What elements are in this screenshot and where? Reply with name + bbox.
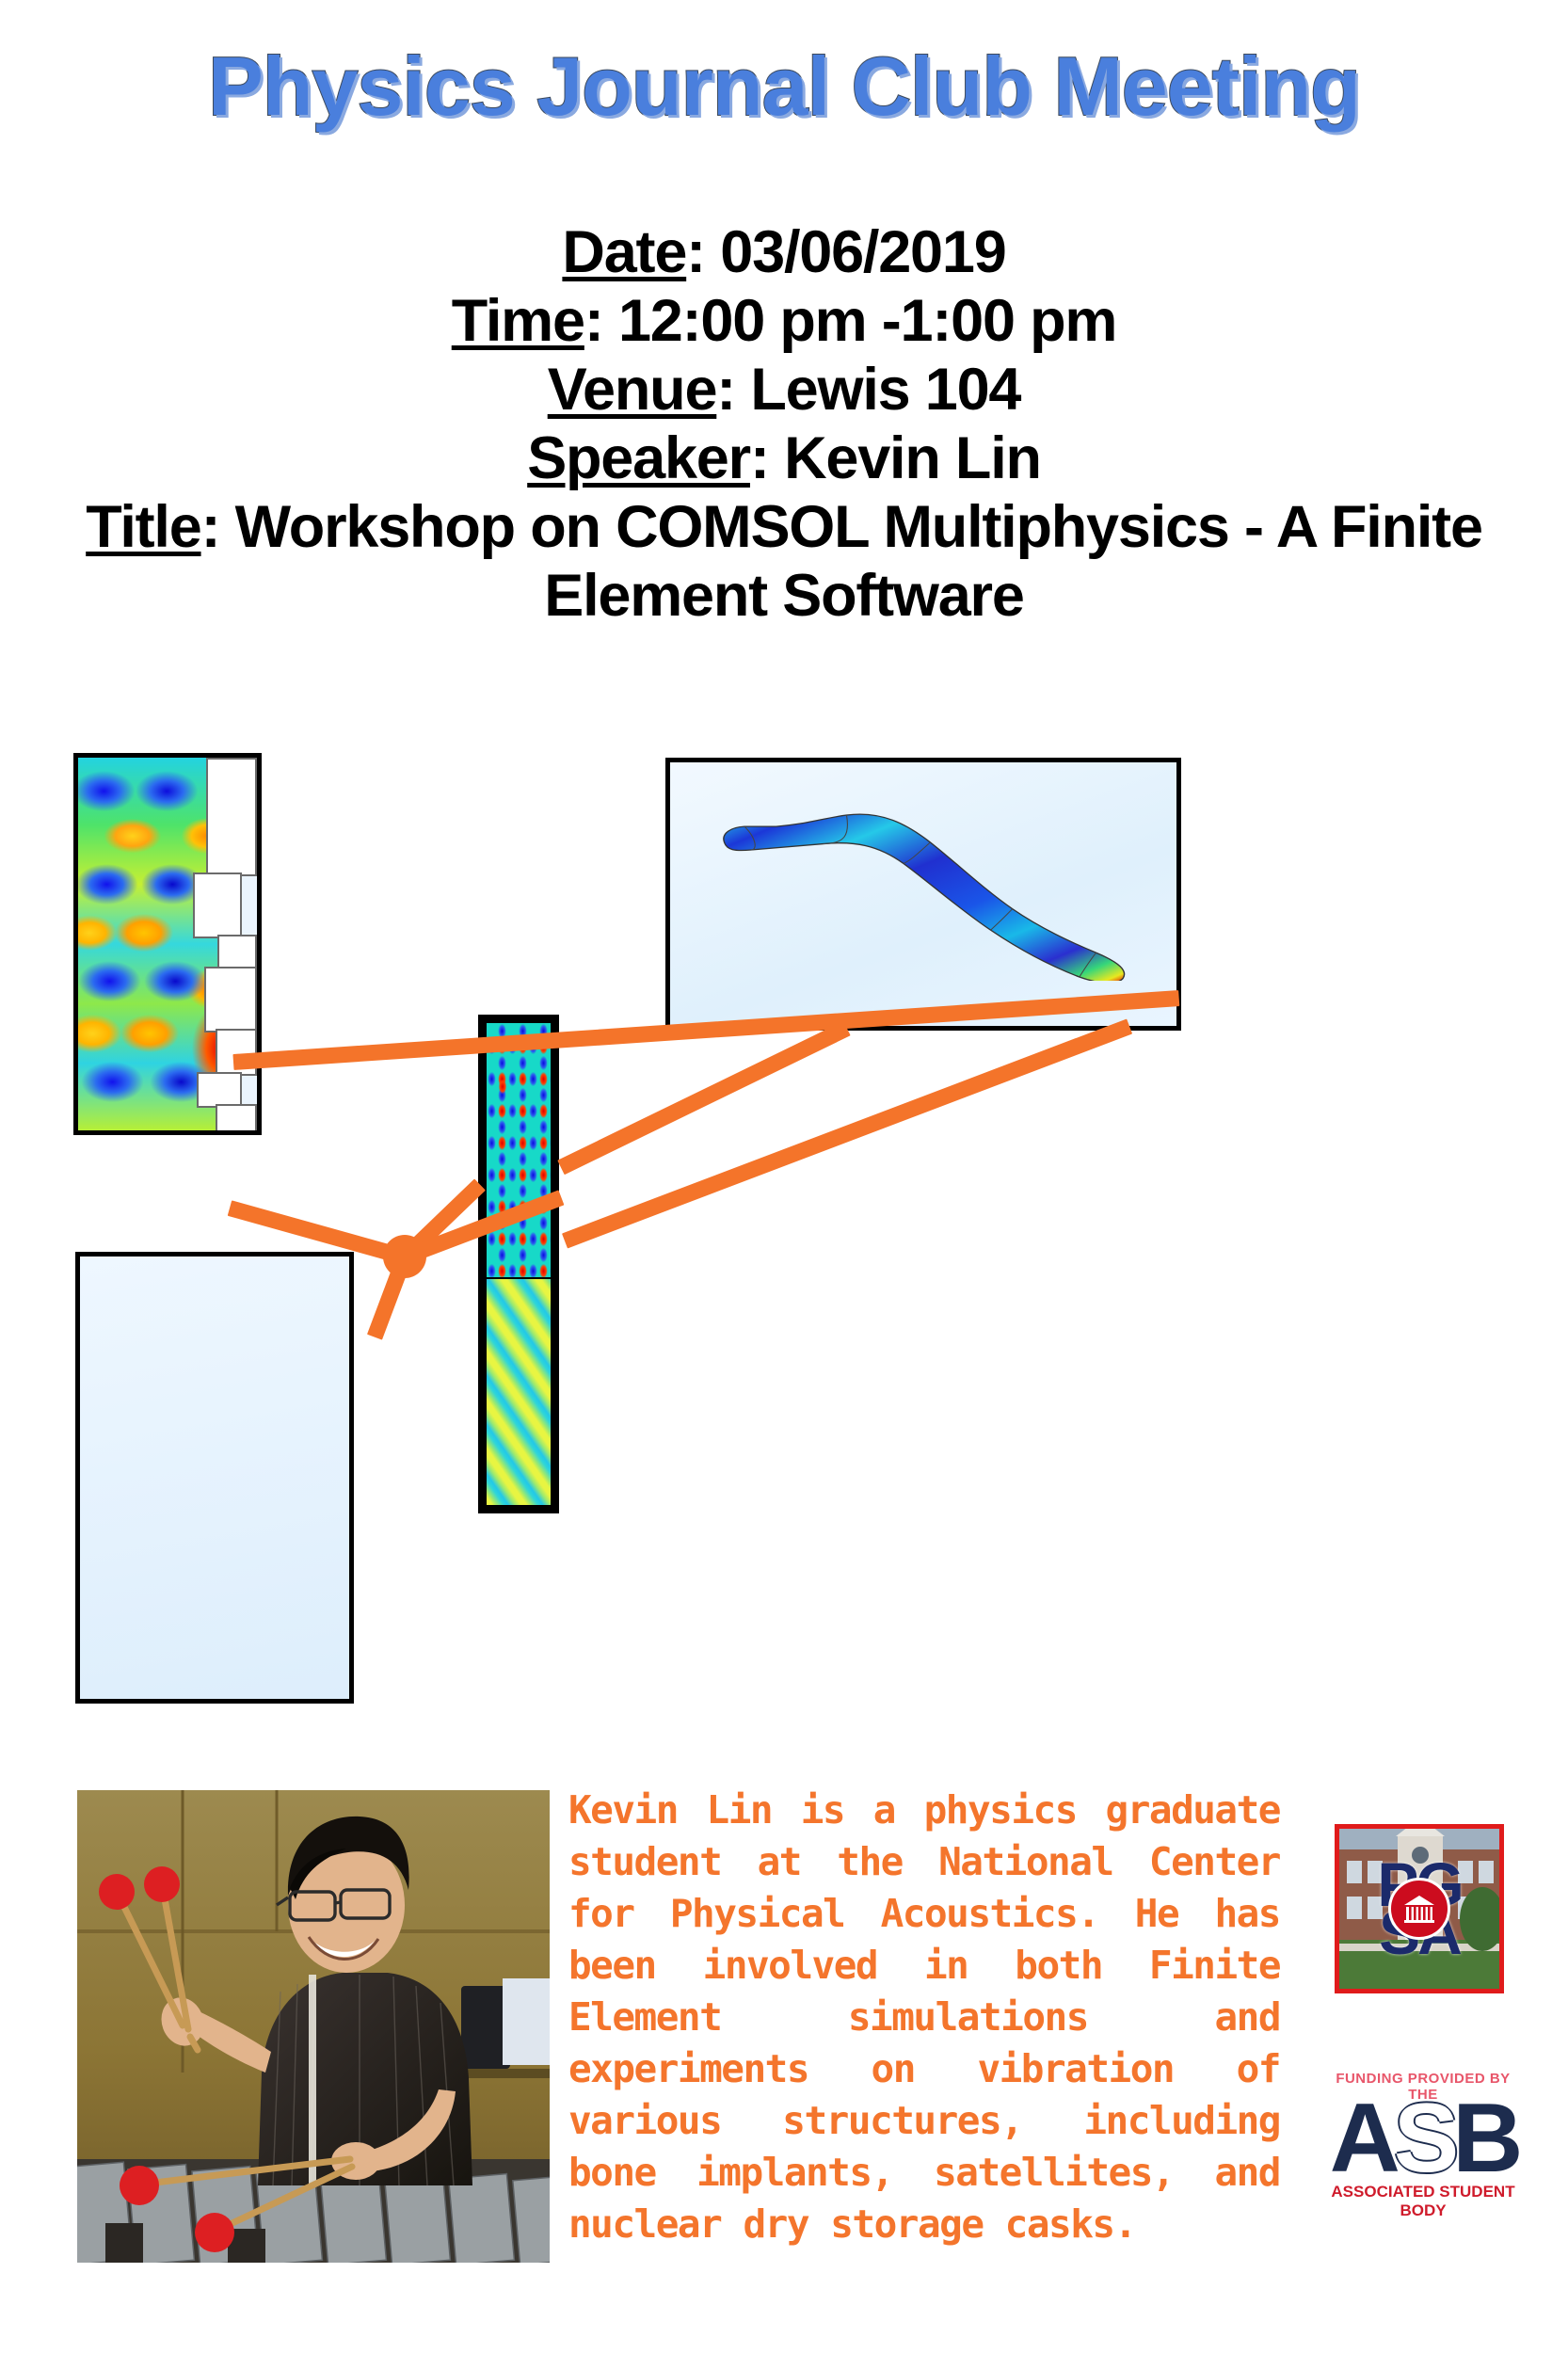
detail-talk-label: Title <box>86 494 200 560</box>
speaker-bio: Kevin Lin is a physics graduate student … <box>568 1785 1280 2249</box>
mesh-svg <box>395 932 1568 1732</box>
speaker-photo-svg <box>77 1790 550 2263</box>
poster-header: Physics Journal Club Meeting <box>0 45 1568 128</box>
panel-notch-7 <box>216 1104 257 1135</box>
asb-acronym: ASB <box>1321 2097 1525 2181</box>
detail-colon: : <box>686 219 705 285</box>
asb-letter-a: A <box>1330 2084 1394 2193</box>
detail-time-value: 12:00 pm -1:00 pm <box>618 288 1116 354</box>
bone-implant-svg <box>706 808 1142 982</box>
detail-venue-label: Venue <box>548 357 717 423</box>
asb-logo[interactable]: FUNDING PROVIDED BY THE ASB ASSOCIATED S… <box>1321 2071 1525 2212</box>
bone-implant-figure <box>665 758 1181 1031</box>
detail-colon: : <box>584 288 603 354</box>
speaker-photo <box>77 1790 550 2263</box>
detail-venue: Venue: Lewis 104 <box>0 356 1568 424</box>
storage-cask-figure <box>75 1252 354 1704</box>
layered-strip-figure <box>478 1015 559 1513</box>
detail-speaker-value: Kevin Lin <box>784 425 1041 491</box>
detail-date-value: 03/06/2019 <box>720 219 1005 285</box>
detail-speaker-label: Speaker <box>527 425 750 491</box>
strip-checker-region <box>487 1023 551 1277</box>
pgsa-logo[interactable]: PG SA <box>1335 1824 1504 1993</box>
panel-notch-6 <box>197 1072 242 1108</box>
detail-time: Time: 12:00 pm -1:00 pm <box>0 287 1568 356</box>
seal-building-icon <box>1399 1888 1440 1929</box>
detail-date-label: Date <box>562 219 686 285</box>
meeting-details: Date: 03/06/2019 Time: 12:00 pm -1:00 pm… <box>0 218 1568 631</box>
finite-element-mesh-image <box>395 932 1568 1732</box>
panel-notch-4 <box>204 967 257 1032</box>
detail-colon: : <box>201 494 220 560</box>
cask-background <box>80 1257 349 1699</box>
ole-miss-seal-icon <box>1388 1878 1450 1940</box>
detail-talk-value: Workshop on COMSOL Multiphysics - A Fini… <box>235 494 1482 629</box>
panel-notch-3 <box>217 935 257 970</box>
detail-colon: : <box>750 425 769 491</box>
satellite-panel-figure <box>73 753 262 1135</box>
panel-notch-2 <box>193 872 242 938</box>
panel-notch-1 <box>206 758 257 876</box>
detail-time-label: Time <box>452 288 584 354</box>
detail-date: Date: 03/06/2019 <box>0 218 1568 287</box>
connector-hub <box>383 1235 426 1278</box>
page-title: Physics Journal Club Meeting <box>208 45 1360 128</box>
asb-letter-s: S <box>1394 2084 1452 2193</box>
detail-speaker: Speaker: Kevin Lin <box>0 424 1568 493</box>
asb-full-name: ASSOCIATED STUDENT BODY <box>1321 2183 1525 2220</box>
detail-talk-title: Title: Workshop on COMSOL Multiphysics -… <box>0 493 1568 631</box>
strip-stripe-region <box>487 1279 551 1505</box>
detail-colon: : <box>716 357 735 423</box>
asb-letter-b: B <box>1452 2084 1516 2193</box>
detail-venue-value: Lewis 104 <box>750 357 1020 423</box>
